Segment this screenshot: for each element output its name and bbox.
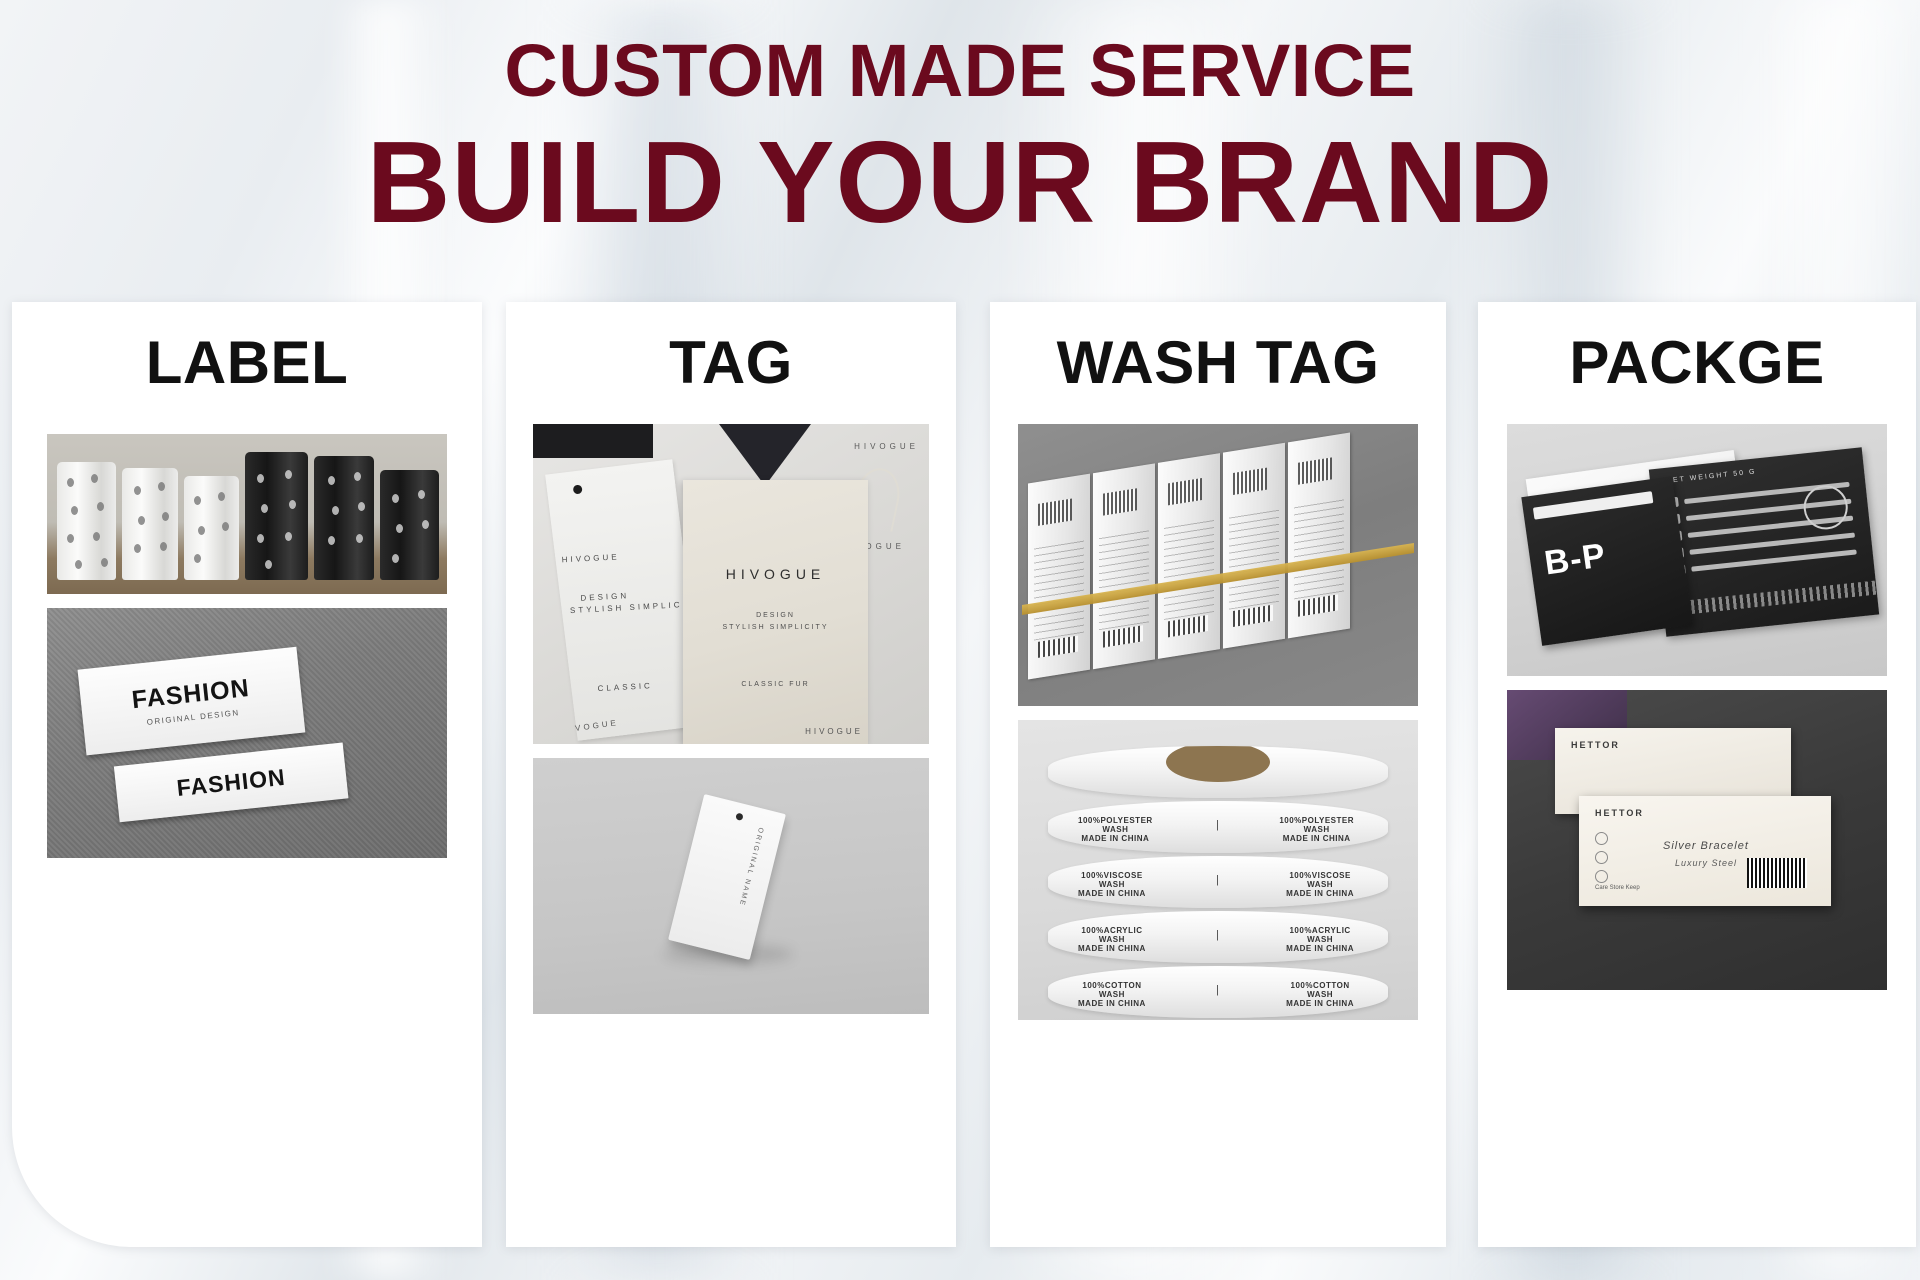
ribbon-roll: [184, 476, 239, 580]
care-tape-roll: 100%POLYESTER WASH MADE IN CHINA | 100%P…: [1048, 746, 1388, 1020]
ribbon-roll: [57, 462, 116, 580]
care-label-bundle-group: [1028, 433, 1350, 680]
category-card-tag[interactable]: TAG HIVOGUE HIVOGUE HIVOGUE DESIGN STYLI…: [506, 302, 956, 1247]
hangtag-tagline: STYLISH SIMPLICITY: [722, 624, 828, 631]
ribbon-roll: [314, 456, 375, 580]
hangtag-foreground: HIVOGUE DESIGN STYLISH SIMPLICITY CLASSI…: [683, 480, 868, 744]
care-origin: MADE IN CHINA: [1283, 834, 1351, 843]
backdrop-corner: [533, 424, 653, 458]
category-card-package[interactable]: PACKGE NET WEIGHT 50 G B-P: [1478, 302, 1916, 1247]
tape-core: [1166, 746, 1270, 782]
hangtag-bottom-right-text: HIVOGUE: [805, 727, 863, 736]
photo-label-ribbon-rolls: [47, 434, 447, 594]
hangtag-hole: [573, 484, 583, 494]
care-label-bundle: [1288, 433, 1350, 639]
care-label-bundle: [1223, 443, 1285, 649]
care-fiber: 100%ACRYLIC: [1289, 926, 1350, 935]
care-wash: WASH: [1099, 990, 1125, 999]
photo-washtag-tape-rolls: 100%POLYESTER WASH MADE IN CHINA | 100%P…: [1018, 720, 1418, 1020]
care-origin: MADE IN CHINA: [1081, 834, 1149, 843]
category-card-label[interactable]: LABEL: [12, 302, 482, 1247]
care-origin: MADE IN CHINA: [1078, 999, 1146, 1008]
care-origin: MADE IN CHINA: [1078, 889, 1146, 898]
product-category-cards: LABEL: [0, 302, 1920, 1252]
woven-label-brand-2: FASHION: [175, 763, 286, 801]
banner-header: CUSTOM MADE SERVICE BUILD YOUR BRAND: [0, 0, 1920, 240]
care-text-left: 100%ACRYLIC WASH MADE IN CHINA: [1078, 927, 1146, 953]
ribbon-roll: [122, 468, 179, 580]
hangtag-bg-line1: DESIGN: [580, 591, 629, 603]
tape-layer: [1048, 746, 1388, 798]
black-mailer-bag: B-P: [1521, 476, 1692, 646]
bag-brand-text: B-P: [1542, 536, 1608, 583]
pouch-care-text: Care Store Keep: [1595, 884, 1640, 894]
care-wash: WASH: [1304, 825, 1330, 834]
package-net-weight: NET WEIGHT 50 G: [1666, 468, 1757, 484]
care-wash: WASH: [1307, 935, 1333, 944]
care-origin: MADE IN CHINA: [1286, 889, 1354, 898]
care-text-right: 100%ACRYLIC WASH MADE IN CHINA: [1286, 927, 1354, 953]
package-bottom-strip: [1663, 581, 1877, 617]
pouch-bullet-icons: [1595, 832, 1608, 889]
care-symbol: |: [1216, 819, 1219, 831]
tape-layer: 100%COTTON WASH MADE IN CHINA | 100%COTT…: [1048, 966, 1388, 1018]
care-origin: MADE IN CHINA: [1286, 944, 1354, 953]
care-text-right: 100%VISCOSE WASH MADE IN CHINA: [1286, 872, 1354, 898]
headline-subtitle: CUSTOM MADE SERVICE: [0, 34, 1920, 108]
hangtag-hole: [735, 812, 743, 820]
hangtag-background: HIVOGUE DESIGN STYLISH SIMPLICITY CLASSI…: [545, 459, 705, 741]
tape-layer: 100%POLYESTER WASH MADE IN CHINA | 100%P…: [1048, 801, 1388, 853]
care-symbol: |: [1216, 984, 1219, 996]
care-fiber: 100%POLYESTER: [1078, 816, 1153, 825]
care-wash: WASH: [1099, 935, 1125, 944]
pouch-brand-front: HETTOR: [1595, 808, 1644, 818]
photo-package-mailer-bags: NET WEIGHT 50 G B-P: [1507, 424, 1887, 676]
tape-layer: 100%ACRYLIC WASH MADE IN CHINA | 100%ACR…: [1048, 911, 1388, 963]
tape-layer: 100%VISCOSE WASH MADE IN CHINA | 100%VIS…: [1048, 856, 1388, 908]
care-fiber: 100%VISCOSE: [1081, 871, 1143, 880]
photo-tag-hangtags: HIVOGUE HIVOGUE HIVOGUE DESIGN STYLISH S…: [533, 424, 929, 744]
hangtag-brand: HIVOGUE: [726, 566, 826, 582]
card-title-wash-tag: WASH TAG: [1057, 330, 1380, 396]
care-fiber: 100%POLYESTER: [1279, 816, 1354, 825]
headline-title: BUILD YOUR BRAND: [0, 124, 1920, 240]
hangtag-side-brand: HIVOGUE: [854, 442, 919, 451]
ribbon-roll: [245, 452, 307, 580]
zip-pouch-front: HETTOR Silver Bracelet Luxury Steel Care…: [1579, 796, 1831, 906]
care-text-left: 100%VISCOSE WASH MADE IN CHINA: [1078, 872, 1146, 898]
pouch-bullet-icon: [1595, 870, 1608, 883]
hangtag-bg-brand: HIVOGUE: [561, 552, 619, 564]
photo-tag-single-hangtag: ORIGINAL NAME: [533, 758, 929, 1014]
care-wash: WASH: [1307, 880, 1333, 889]
hangtag-white: ORIGINAL NAME: [668, 794, 786, 960]
hangtag-series: CLASSIC FUR: [741, 681, 809, 688]
care-fiber: 100%ACRYLIC: [1081, 926, 1142, 935]
care-label-bundle: [1093, 463, 1155, 669]
card-title-tag: TAG: [669, 330, 793, 396]
care-wash: WASH: [1102, 825, 1128, 834]
care-fiber: 100%COTTON: [1291, 981, 1350, 990]
care-origin: MADE IN CHINA: [1286, 999, 1354, 1008]
photo-package-zip-pouches: HETTOR HETTOR Silver Bracelet Luxury Ste…: [1507, 690, 1887, 990]
photo-washtag-bundles: [1018, 424, 1418, 706]
ribbon-roll: [380, 470, 439, 580]
backdrop-triangle: [719, 424, 811, 486]
care-label-bundle: [1028, 474, 1090, 680]
woven-label-stack: FASHION ORIGINAL DESIGN FASHION: [78, 643, 349, 825]
pouch-bullet-icon: [1595, 832, 1608, 845]
pouch-product-sub: Luxury Steel: [1675, 858, 1737, 868]
hangtag-bg-line3: CLASSIC: [597, 681, 653, 693]
care-wash: WASH: [1307, 990, 1333, 999]
hangtag-vertical-text: ORIGINAL NAME: [738, 827, 764, 908]
pouch-bullet-icon: [1595, 851, 1608, 864]
ribbon-roll-group: [47, 434, 447, 594]
care-fiber: 100%VISCOSE: [1289, 871, 1351, 880]
card-title-package: PACKGE: [1569, 330, 1824, 396]
pouch-brand-back: HETTOR: [1571, 740, 1620, 750]
care-label-bundle: [1158, 453, 1220, 659]
care-text-right: 100%POLYESTER WASH MADE IN CHINA: [1279, 817, 1354, 843]
care-symbol: |: [1216, 874, 1219, 886]
photo-label-woven-labels: FASHION ORIGINAL DESIGN FASHION: [47, 608, 447, 858]
care-symbol: |: [1216, 929, 1219, 941]
card-title-label: LABEL: [146, 330, 348, 396]
care-text-left: 100%COTTON WASH MADE IN CHINA: [1078, 982, 1146, 1008]
pouch-product-name: Silver Bracelet: [1663, 840, 1749, 852]
care-wash: WASH: [1099, 880, 1125, 889]
care-fiber: 100%COTTON: [1082, 981, 1141, 990]
category-card-wash-tag[interactable]: WASH TAG 100%POLYESTER WASH: [990, 302, 1446, 1247]
care-origin: MADE IN CHINA: [1078, 944, 1146, 953]
bag-zip-strip: [1533, 491, 1654, 520]
care-text-right: 100%COTTON WASH MADE IN CHINA: [1286, 982, 1354, 1008]
hangtag-design-label: DESIGN: [756, 612, 795, 619]
care-text-left: 100%POLYESTER WASH MADE IN CHINA: [1078, 817, 1153, 843]
pouch-barcode: [1747, 858, 1807, 888]
